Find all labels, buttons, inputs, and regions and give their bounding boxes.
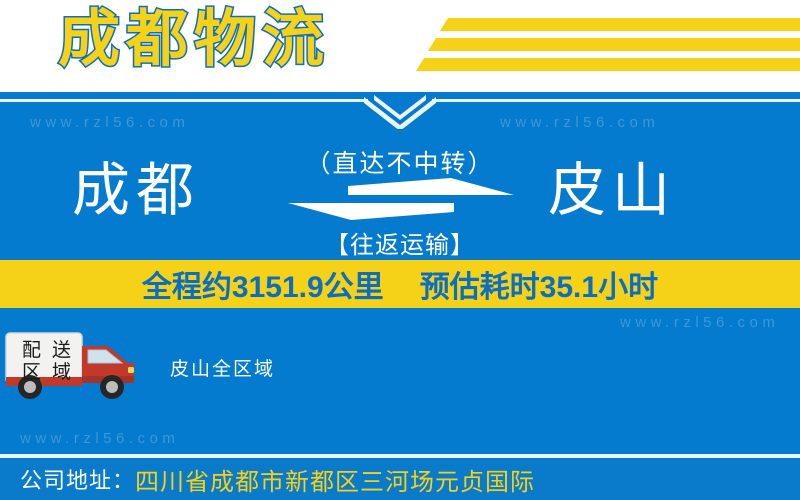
destination-city: 皮山 xyxy=(548,160,676,222)
delivery-truck-icon: 配 送 区 域 xyxy=(4,330,150,402)
stripe-2 xyxy=(428,38,800,51)
truck-text-qu: 区 xyxy=(22,362,41,383)
watermark: www.rzl56.com xyxy=(500,114,659,131)
truck-text-pei: 配 xyxy=(22,340,41,361)
watermark: www.rzl56.com xyxy=(620,314,779,331)
watermark: www.rzl56.com xyxy=(20,430,179,447)
stripe-1 xyxy=(440,18,800,31)
divider-line-left xyxy=(0,99,368,102)
footer-bar: 公司地址： 四川省成都市新都区三河场元贞国际 xyxy=(0,458,800,500)
banner-body: www.rzl56.com www.rzl56.com www.rzl56.co… xyxy=(0,92,800,500)
chevron-down-icon xyxy=(364,95,436,129)
divider-line-right xyxy=(432,99,800,102)
double-arrow-icon xyxy=(288,178,514,220)
banner-header: 成都物流 xyxy=(0,0,800,92)
origin-city: 成都 xyxy=(72,160,200,222)
duration-value: 预估耗时35.1小时 xyxy=(420,262,658,306)
page-title: 成都物流 xyxy=(58,4,330,76)
address-label: 公司地址： xyxy=(20,463,135,495)
watermark: www.rzl56.com xyxy=(30,114,189,131)
decorative-stripes xyxy=(410,14,800,80)
address-value: 四川省成都市新都区三河场元贞国际 xyxy=(135,462,535,497)
truck-text-song: 送 xyxy=(52,339,71,361)
coverage-area-label: 皮山全区域 xyxy=(170,354,275,381)
logistics-banner: 成都物流 www.rzl56.com www.rzl56.com www.rzl… xyxy=(0,0,800,500)
truck-text-yu: 域 xyxy=(52,361,71,383)
stats-band: 全程约3151.9公里 预估耗时35.1小时 xyxy=(0,260,800,308)
roundtrip-label: 【往返运输】 xyxy=(0,225,800,260)
distance-value: 全程约3151.9公里 xyxy=(142,262,384,306)
stripe-3 xyxy=(416,58,800,71)
